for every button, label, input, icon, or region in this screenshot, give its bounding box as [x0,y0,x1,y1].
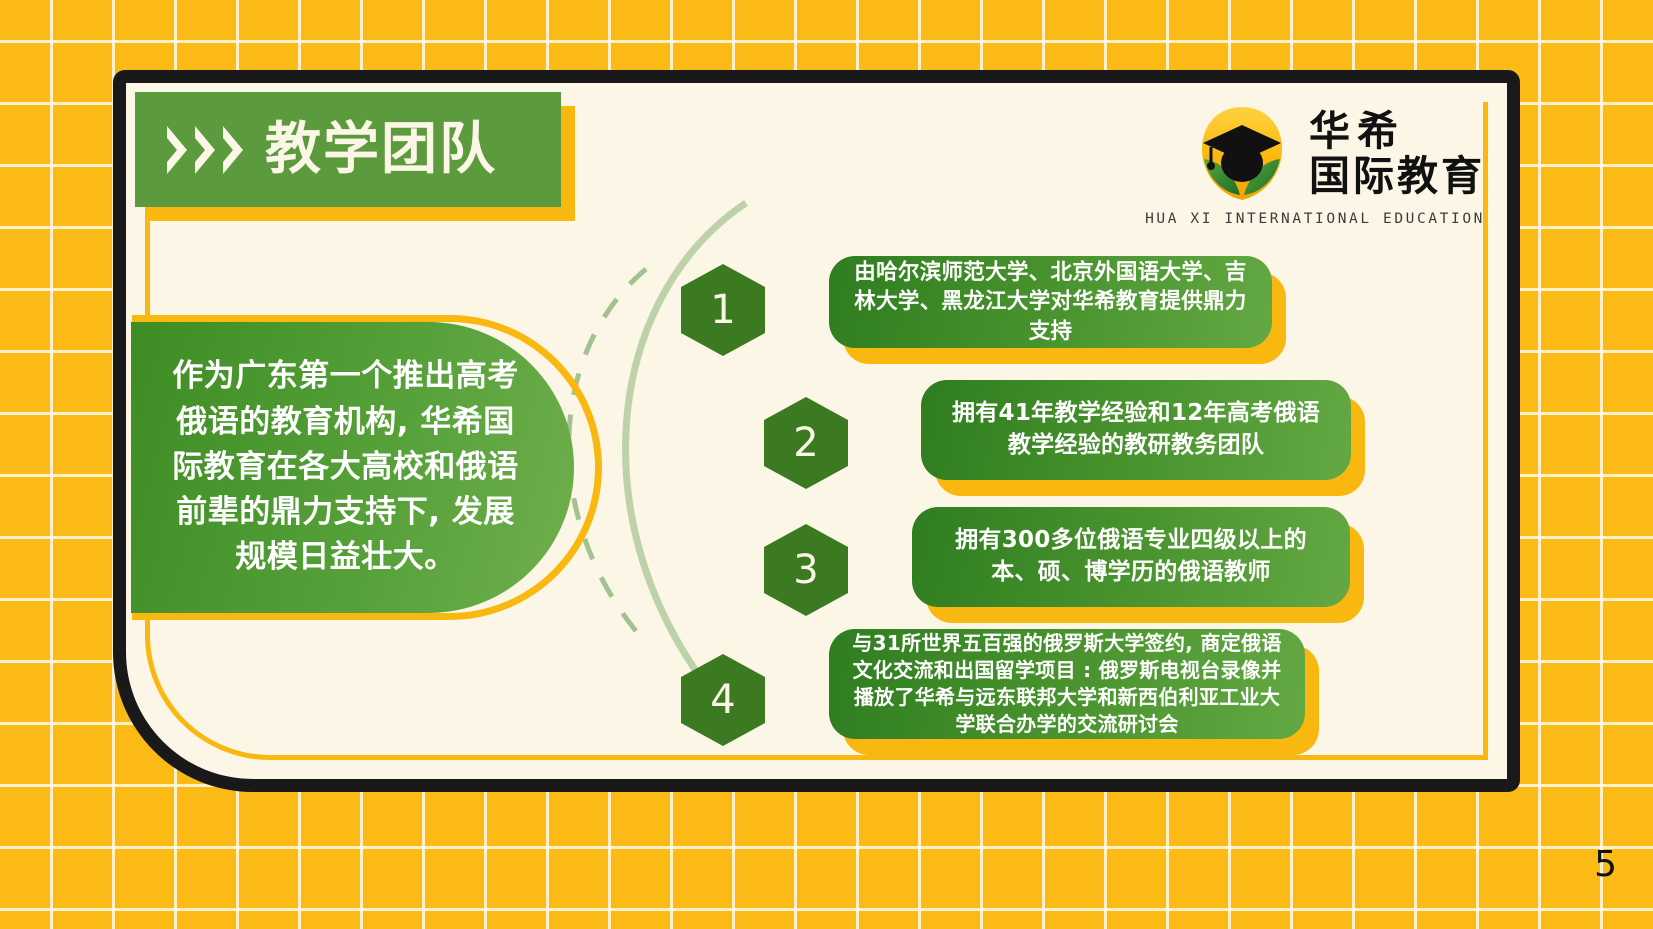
info-card-1-box: 由哈尔滨师范大学、北京外国语大学、吉林大学、黑龙江大学对华希教育提供鼎力支持 [829,256,1272,348]
info-card-4-box: 与31所世界五百强的俄罗斯大学签约, 商定俄语文化交流和出国留学项目 : 俄罗斯… [829,629,1305,739]
brand-logo: 华希 国际教育 HUA XI INTERNATIONAL EDUCATION [1145,101,1485,227]
logo-line-2: 国际教育 [1309,155,1485,198]
logo-row: 华希 国际教育 [1189,101,1485,207]
graduation-cap-logo-icon [1189,101,1295,207]
info-card-2[interactable]: 拥有41年教学经验和12年高考俄语教学经验的教研教务团队 [921,380,1351,480]
summary-block: 作为广东第一个推出高考俄语的教育机构, 华希国际教育在各大高校和俄语前辈的鼎力支… [131,322,574,613]
info-card-3-box: 拥有300多位俄语专业四级以上的本、硕、博学历的俄语教师 [912,507,1350,607]
triple-chevron-right-icon [165,124,247,176]
info-card-1[interactable]: 由哈尔滨师范大学、北京外国语大学、吉林大学、黑龙江大学对华希教育提供鼎力支持 [829,256,1272,348]
logo-line-1: 华希 [1309,110,1485,153]
info-card-2-text: 拥有41年教学经验和12年高考俄语教学经验的教研教务团队 [941,398,1331,461]
info-card-3-text: 拥有300多位俄语专业四级以上的本、硕、博学历的俄语教师 [932,525,1330,588]
info-card-4[interactable]: 与31所世界五百强的俄罗斯大学签约, 商定俄语文化交流和出国留学项目 : 俄罗斯… [829,629,1305,739]
logo-wordmark: 华希 国际教育 [1309,110,1485,198]
info-card-2-box: 拥有41年教学经验和12年高考俄语教学经验的教研教务团队 [921,380,1351,480]
title-banner-bar: 教学团队 [135,92,561,207]
page-number: 5 [1594,844,1617,885]
slide-canvas: 5 教学团队 [0,0,1653,929]
info-card-3[interactable]: 拥有300多位俄语专业四级以上的本、硕、博学历的俄语教师 [912,507,1350,607]
page-title: 教学团队 [265,122,497,178]
logo-tagline: HUA XI INTERNATIONAL EDUCATION [1145,211,1485,227]
info-card-4-text: 与31所世界五百强的俄罗斯大学签约, 商定俄语文化交流和出国留学项目 : 俄罗斯… [849,630,1285,737]
content-card: 教学团队 [113,70,1520,792]
summary-text: 作为广东第一个推出高考俄语的教育机构, 华希国际教育在各大高校和俄语前辈的鼎力支… [171,354,520,580]
info-card-1-text: 由哈尔滨师范大学、北京外国语大学、吉林大学、黑龙江大学对华希教育提供鼎力支持 [849,258,1252,347]
